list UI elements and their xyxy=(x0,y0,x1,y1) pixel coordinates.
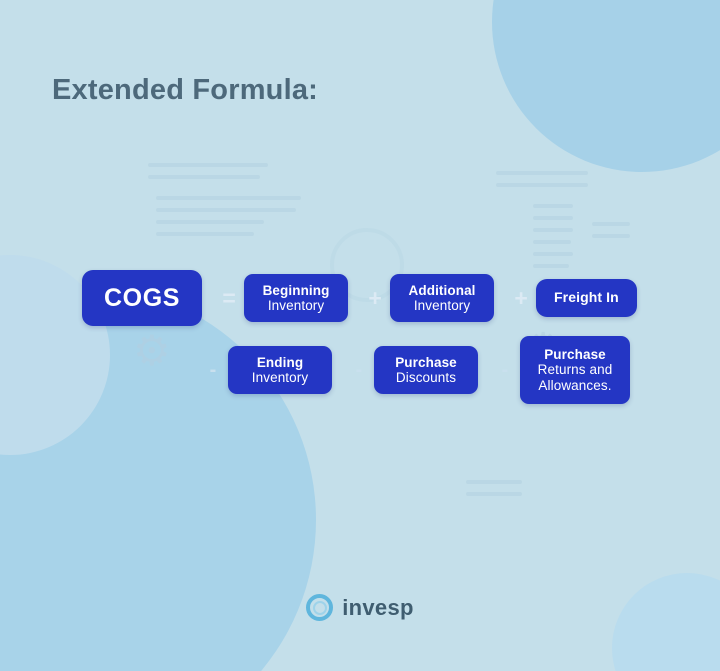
brand-logo: invesp xyxy=(0,594,720,621)
formula-term-cogs-line1: COGS xyxy=(104,284,180,312)
formula-term-cogs[interactable]: COGS xyxy=(82,270,202,326)
background-blob-top-right xyxy=(492,0,720,172)
decorative-lines-left-mid xyxy=(156,196,301,244)
infographic-canvas: ⚙ ⚙ Extended Formula: COGS=BeginningInve… xyxy=(0,0,720,671)
decorative-line xyxy=(466,492,522,496)
formula-term-beginning[interactable]: BeginningInventory xyxy=(244,274,348,322)
decorative-lines-right-far xyxy=(592,222,630,246)
formula-term-returns-line3: Allowances. xyxy=(532,378,618,393)
formula-term-returns[interactable]: PurchaseReturns andAllowances. xyxy=(520,336,630,403)
formula-row-1: COGS=BeginningInventory+AdditionalInvent… xyxy=(0,262,720,334)
formula-term-additional-line1: Additional xyxy=(406,283,478,298)
decorative-line xyxy=(156,232,254,236)
decorative-line xyxy=(156,220,264,224)
decorative-line xyxy=(533,228,573,232)
operator-plus-2: + xyxy=(506,287,536,310)
formula-block: COGS=BeginningInventory+AdditionalInvent… xyxy=(0,262,720,406)
formula-term-freight[interactable]: Freight In xyxy=(536,279,637,317)
decorative-lines-right-top xyxy=(496,171,588,195)
formula-term-discounts[interactable]: PurchaseDiscounts xyxy=(374,346,478,394)
formula-term-freight-line1: Freight In xyxy=(554,290,619,306)
decorative-line xyxy=(533,240,571,244)
formula-term-returns-line2: Returns and xyxy=(532,362,618,377)
brand-name: invesp xyxy=(342,595,414,621)
operator-minus-3: - xyxy=(490,360,520,380)
formula-term-beginning-line1: Beginning xyxy=(260,283,332,298)
decorative-line xyxy=(148,163,268,167)
formula-term-returns-line1: Purchase xyxy=(532,347,618,362)
decorative-line xyxy=(533,216,573,220)
decorative-line xyxy=(592,222,630,226)
operator-minus-1: - xyxy=(198,360,228,380)
formula-term-beginning-line2: Inventory xyxy=(260,298,332,313)
decorative-line xyxy=(533,204,573,208)
page-title: Extended Formula: xyxy=(52,74,318,107)
decorative-line xyxy=(156,208,296,212)
formula-term-ending-line1: Ending xyxy=(244,355,316,370)
decorative-line xyxy=(592,234,630,238)
operator-plus-1: + xyxy=(360,287,390,310)
decorative-line xyxy=(466,480,522,484)
operator-equals: = xyxy=(214,287,244,310)
formula-term-ending-line2: Inventory xyxy=(244,370,316,385)
decorative-line xyxy=(496,171,588,175)
decorative-line xyxy=(148,175,260,179)
formula-term-additional[interactable]: AdditionalInventory xyxy=(390,274,494,322)
formula-term-ending[interactable]: EndingInventory xyxy=(228,346,332,394)
decorative-line xyxy=(533,252,573,256)
operator-minus-2: - xyxy=(344,360,374,380)
decorative-line xyxy=(156,196,301,200)
decorative-lines-left-top xyxy=(148,163,268,187)
decorative-line xyxy=(496,183,588,187)
formula-term-discounts-line2: Discounts xyxy=(390,370,462,385)
decorative-lines-bottom xyxy=(466,480,522,504)
formula-term-discounts-line1: Purchase xyxy=(390,355,462,370)
formula-row-2: -EndingInventory-PurchaseDiscounts-Purch… xyxy=(0,334,720,406)
formula-term-additional-line2: Inventory xyxy=(406,298,478,313)
invesp-ring-icon xyxy=(306,594,333,621)
background-blob-bottom-right xyxy=(612,573,720,671)
